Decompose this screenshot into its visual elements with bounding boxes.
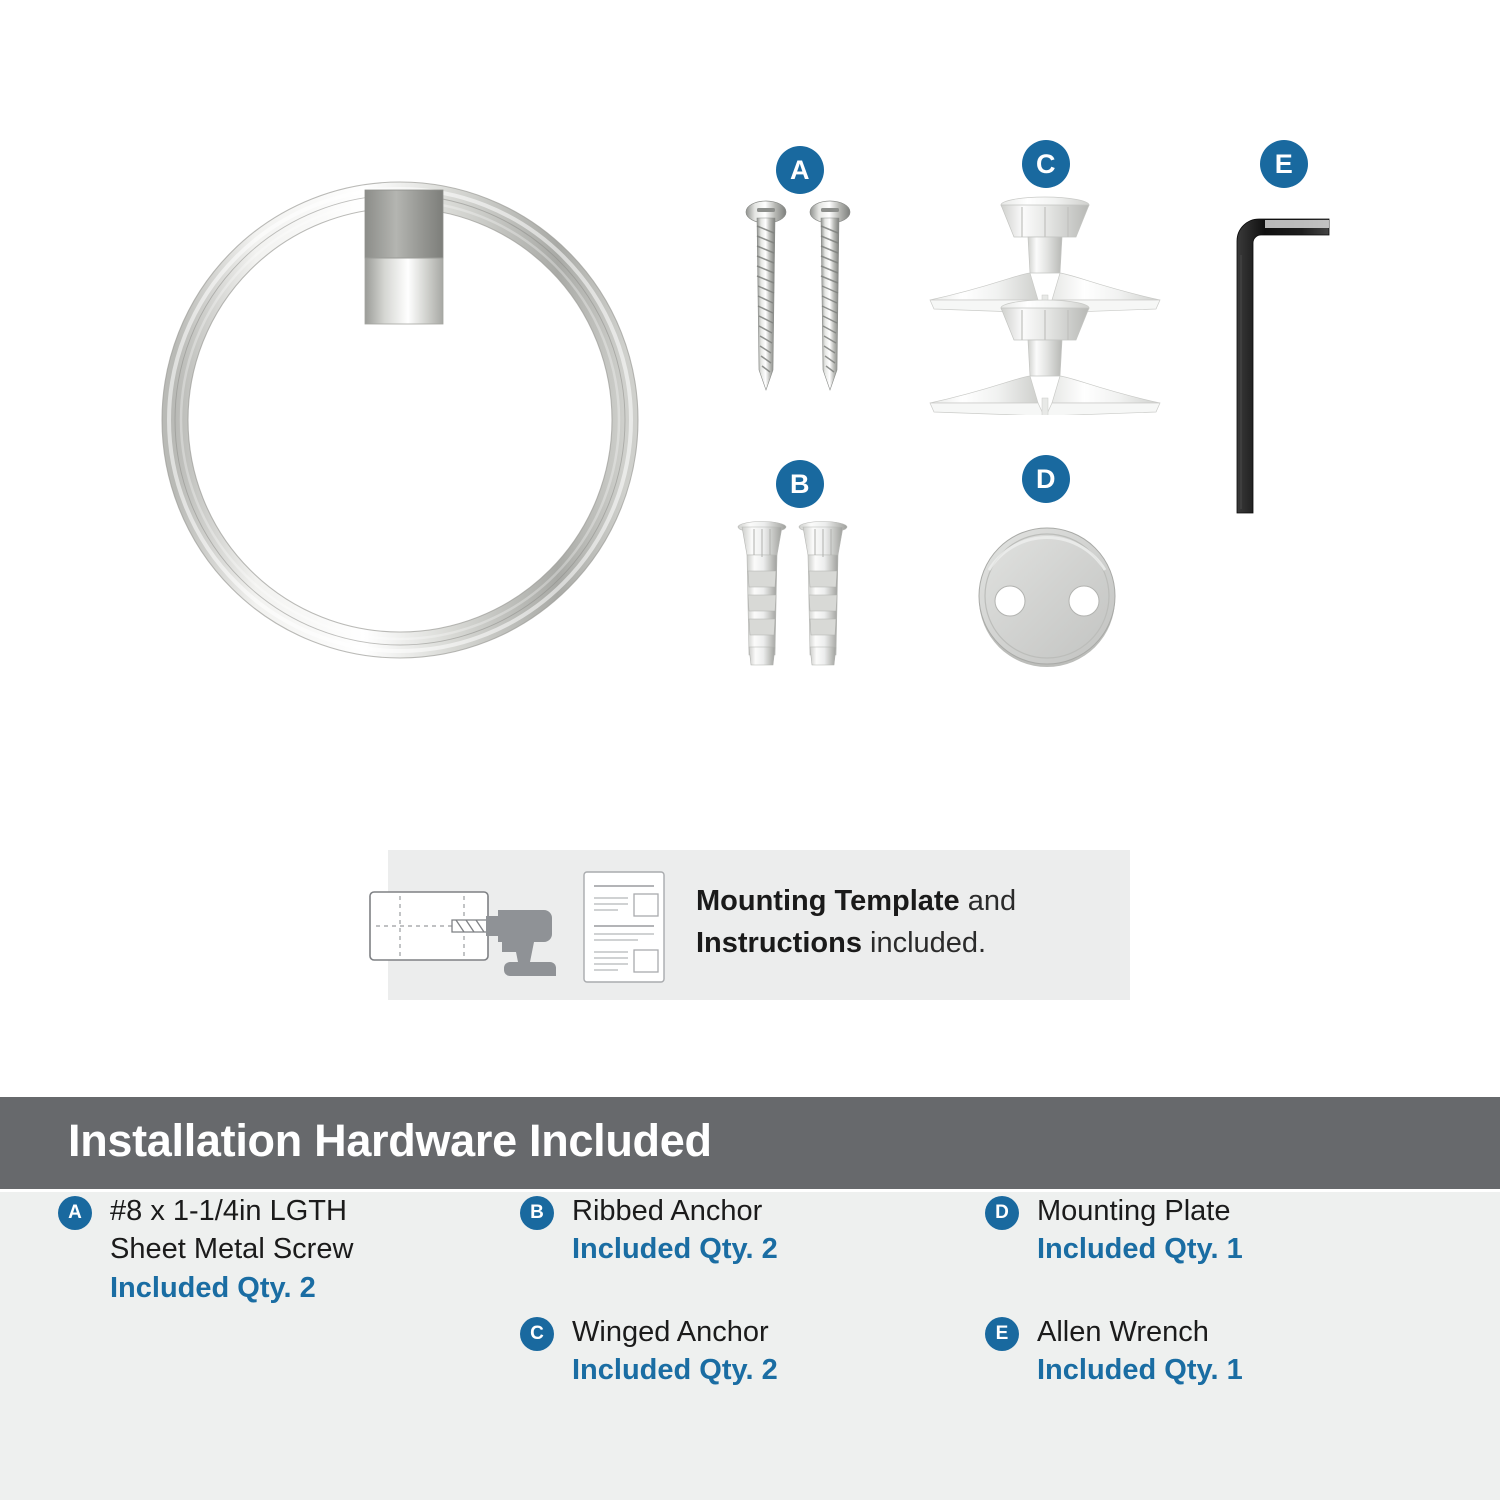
towel-ring-product-image xyxy=(150,120,650,680)
legend-qty-b: Included Qty. 2 xyxy=(572,1230,960,1268)
legend-qty-a: Included Qty. 2 xyxy=(110,1269,498,1307)
ribbed-anchors-svg xyxy=(735,515,860,675)
product-diagram-area: A C E B D xyxy=(0,0,1500,1097)
template-line-1: Mounting Template and xyxy=(696,880,1116,922)
drill-icon-svg xyxy=(368,880,568,980)
legend-item-a: A #8 x 1-1/4in LGTH Sheet Metal Screw In… xyxy=(58,1192,498,1307)
legend-name-a-line1: #8 x 1-1/4in LGTH xyxy=(110,1192,498,1230)
screw-2 xyxy=(810,201,850,390)
legend-name-d: Mounting Plate xyxy=(1037,1192,1445,1230)
ribbed-anchor-2 xyxy=(799,522,847,666)
winged-anchors-svg xyxy=(920,195,1170,415)
sheet-metal-screws-image xyxy=(740,190,870,410)
instructions-label: Instructions xyxy=(696,927,862,959)
towel-ring-svg xyxy=(150,120,650,680)
callout-badge-d: D xyxy=(1022,455,1070,503)
legend-qty-d: Included Qty. 1 xyxy=(1037,1230,1445,1268)
mounting-template-banner: Mounting Template and Instructions inclu… xyxy=(388,850,1130,1000)
mounting-plate-svg xyxy=(975,525,1120,670)
drill-icon xyxy=(368,880,568,980)
legend-badge-e: E xyxy=(985,1317,1019,1351)
legend-name-a-line2: Sheet Metal Screw xyxy=(110,1230,498,1268)
instructions-document-icon xyxy=(578,868,678,986)
screws-svg xyxy=(740,190,870,410)
legend-name-c: Winged Anchor xyxy=(572,1313,960,1351)
instructions-document-svg xyxy=(578,868,678,986)
winged-anchor-2 xyxy=(930,300,1160,415)
allen-wrench-svg xyxy=(1225,195,1340,515)
legend-badge-c: C xyxy=(520,1317,554,1351)
callout-badge-c: C xyxy=(1022,140,1070,188)
mounting-template-text: Mounting Template and Instructions inclu… xyxy=(696,880,1116,964)
screw-1 xyxy=(746,201,786,390)
legend-badge-d: D xyxy=(985,1196,1019,1230)
template-line-1-rest: and xyxy=(960,885,1016,917)
callout-badge-a: A xyxy=(776,146,824,194)
legend-name-b: Ribbed Anchor xyxy=(572,1192,960,1230)
mounting-plate-image xyxy=(975,525,1120,670)
winged-anchors-image xyxy=(920,195,1170,415)
legend-column-3: D Mounting Plate Included Qty. 1 E Allen… xyxy=(985,1192,1445,1433)
legend-item-b: B Ribbed Anchor Included Qty. 2 xyxy=(520,1192,960,1269)
legend-item-d: D Mounting Plate Included Qty. 1 xyxy=(985,1192,1445,1269)
callout-badge-b: B xyxy=(776,460,824,508)
callout-badge-e: E xyxy=(1260,140,1308,188)
ribbed-anchors-image xyxy=(735,515,860,675)
hardware-legend-area: A #8 x 1-1/4in LGTH Sheet Metal Screw In… xyxy=(0,1192,1500,1500)
winged-anchor-1 xyxy=(930,197,1160,313)
template-line-2: Instructions included. xyxy=(696,922,1116,964)
legend-column-2: B Ribbed Anchor Included Qty. 2 C Winged… xyxy=(520,1192,960,1433)
legend-item-e: E Allen Wrench Included Qty. 1 xyxy=(985,1313,1445,1390)
page-title: Installation Hardware Included xyxy=(68,1115,712,1167)
template-line-2-rest: included. xyxy=(862,927,986,959)
legend-item-c: C Winged Anchor Included Qty. 2 xyxy=(520,1313,960,1390)
allen-wrench-image xyxy=(1225,195,1340,515)
mounting-template-label: Mounting Template xyxy=(696,885,960,917)
legend-qty-c: Included Qty. 2 xyxy=(572,1351,960,1389)
ribbed-anchor-1 xyxy=(738,522,786,666)
legend-badge-a: A xyxy=(58,1196,92,1230)
installation-hardware-band: Installation Hardware Included xyxy=(0,1097,1500,1189)
legend-name-e: Allen Wrench xyxy=(1037,1313,1445,1351)
legend-qty-e: Included Qty. 1 xyxy=(1037,1351,1445,1389)
legend-badge-b: B xyxy=(520,1196,554,1230)
legend-column-1: A #8 x 1-1/4in LGTH Sheet Metal Screw In… xyxy=(58,1192,498,1351)
